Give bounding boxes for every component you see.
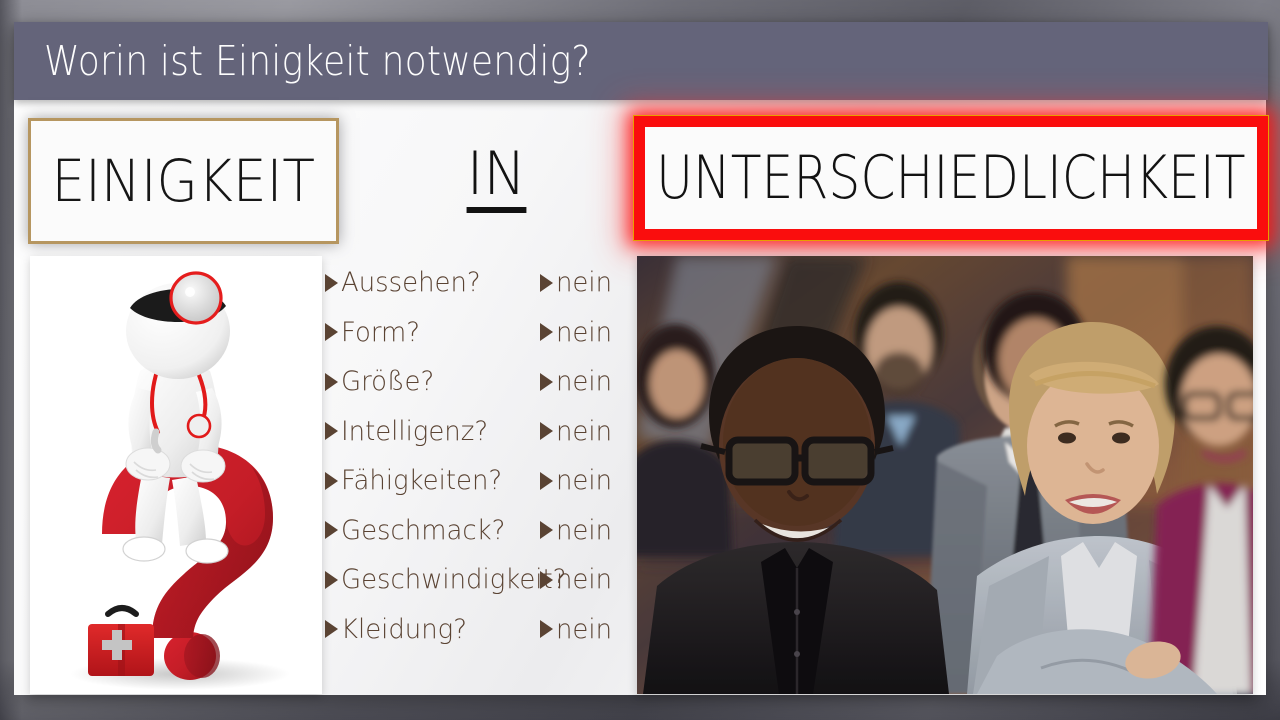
slide-stage: Worin ist Einigkeit notwendig? EINIGKEIT… [0, 0, 1280, 720]
list-item: Fähigkeiten? nein [325, 456, 635, 506]
triangle-bullet-icon [540, 323, 553, 341]
answer-cell: nein [540, 416, 614, 447]
question-label: Kleidung? [341, 614, 467, 645]
einigkeit-box: EINIGKEIT [28, 118, 339, 244]
page-title: Worin ist Einigkeit notwendig? [44, 37, 591, 85]
answer-cell: nein [540, 465, 614, 496]
answer-label: nein [556, 416, 612, 447]
question-label: Geschwindigkeit? [341, 564, 566, 595]
triangle-bullet-icon [540, 274, 553, 292]
question-cell: Intelligenz? [325, 416, 540, 447]
list-item: Geschwindigkeit? nein [325, 555, 635, 605]
question-label: Geschmack? [341, 515, 505, 546]
answer-cell: nein [540, 366, 614, 397]
list-item: Geschmack? nein [325, 506, 635, 556]
answer-label: nein [556, 267, 612, 298]
headline-row: EINIGKEIT IN UNTERSCHIEDLICHKEIT [14, 110, 1266, 245]
triangle-bullet-icon [325, 323, 338, 341]
list-item: Größe? nein [325, 357, 635, 407]
business-people-photo-svg [637, 256, 1253, 694]
question-cell: Größe? [325, 366, 540, 397]
question-answer-list: Aussehen? nein Form? nein Größe? [325, 258, 635, 658]
connector-in: IN [369, 118, 624, 238]
question-label: Aussehen? [341, 267, 481, 298]
triangle-bullet-icon [540, 373, 553, 391]
triangle-bullet-icon [325, 571, 338, 589]
question-cell: Kleidung? [325, 614, 540, 645]
answer-cell: nein [540, 267, 614, 298]
question-label: Größe? [341, 366, 434, 397]
question-cell: Form? [325, 317, 540, 348]
question-cell: Geschmack? [325, 515, 540, 546]
question-label: Fähigkeiten? [341, 465, 502, 496]
list-item: Intelligenz? nein [325, 407, 635, 457]
unterschiedlichkeit-box: UNTERSCHIEDLICHKEIT [634, 116, 1268, 240]
unterschiedlichkeit-label: UNTERSCHIEDLICHKEIT [656, 143, 1245, 213]
slide-title-bar: Worin ist Einigkeit notwendig? [14, 22, 1268, 100]
question-label: Form? [341, 317, 420, 348]
triangle-bullet-icon [325, 373, 338, 391]
list-item: Form? nein [325, 308, 635, 358]
doctor-illustration-svg [30, 256, 322, 694]
answer-label: nein [556, 317, 612, 348]
question-cell: Aussehen? [325, 267, 540, 298]
question-cell: Geschwindigkeit? [325, 564, 540, 595]
triangle-bullet-icon [540, 472, 553, 490]
answer-label: nein [556, 515, 612, 546]
list-item: Aussehen? nein [325, 258, 635, 308]
answer-label: nein [556, 366, 612, 397]
question-cell: Fähigkeiten? [325, 465, 540, 496]
triangle-bullet-icon [540, 422, 553, 440]
connector-in-label: IN [467, 143, 526, 213]
triangle-bullet-icon [325, 521, 338, 539]
triangle-bullet-icon [540, 620, 553, 638]
triangle-bullet-icon [325, 620, 338, 638]
question-label: Intelligenz? [341, 416, 488, 447]
answer-label: nein [556, 614, 612, 645]
triangle-bullet-icon [540, 521, 553, 539]
answer-cell: nein [540, 614, 614, 645]
triangle-bullet-icon [325, 472, 338, 490]
triangle-bullet-icon [325, 274, 338, 292]
doctor-question-mark-image [30, 256, 322, 694]
answer-label: nein [556, 465, 612, 496]
answer-cell: nein [540, 515, 614, 546]
answer-cell: nein [540, 317, 614, 348]
business-people-photo [637, 256, 1253, 694]
einigkeit-label: EINIGKEIT [52, 147, 315, 215]
triangle-bullet-icon [325, 422, 338, 440]
list-item: Kleidung? nein [325, 605, 635, 655]
answer-label: nein [556, 564, 612, 595]
